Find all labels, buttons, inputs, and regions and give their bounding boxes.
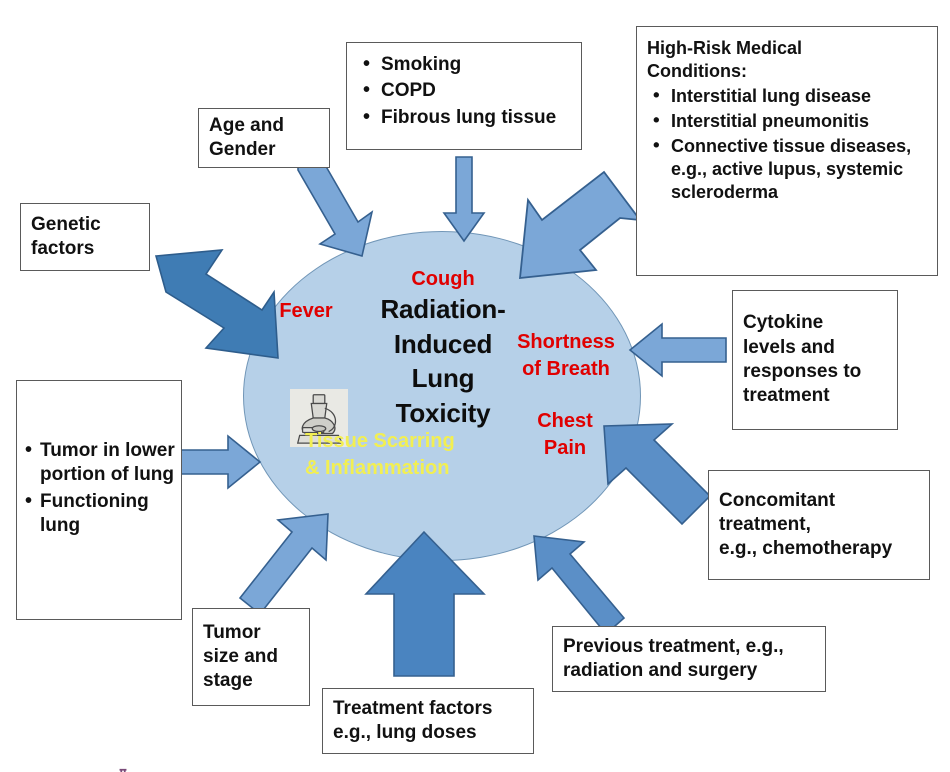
arrow-tumor-size	[236, 508, 336, 618]
box-cytokine-text: Cytokine levels and responses to treatme…	[743, 311, 887, 408]
box-genetic-factors-text: Genetic factors	[31, 213, 139, 262]
list-item: COPD	[357, 79, 571, 103]
box-treatment-factors[interactable]: Treatment factors e.g., lung doses	[322, 688, 534, 754]
symptom-cough: Cough	[385, 266, 501, 293]
arrow-respiratory	[440, 155, 488, 245]
box-tumor-location[interactable]: Tumor in lower portion of lung Functioni…	[16, 380, 182, 620]
box-high-risk-heading: High-Risk Medical Conditions:	[647, 37, 929, 83]
arrow-treatment-factors	[362, 528, 488, 678]
list-item: Connective tissue diseases, e.g., active…	[647, 135, 929, 204]
box-tumor-location-list: Tumor in lower portion of lung Functioni…	[25, 439, 175, 538]
list-item: Tumor in lower portion of lung	[25, 439, 175, 488]
box-age-gender[interactable]: Age and Gender	[198, 108, 330, 168]
arrow-concomitant	[600, 420, 720, 530]
box-previous-treatment[interactable]: Previous treatment, e.g., radiation and …	[552, 626, 826, 692]
box-tumor-size-text: Tumor size and stage	[203, 621, 299, 694]
box-cytokine[interactable]: Cytokine levels and responses to treatme…	[732, 290, 898, 430]
box-respiratory-list: Smoking COPD Fibrous lung tissue	[357, 53, 571, 130]
diagram-canvas: Radiation- Induced Lung Toxicity Cough F…	[0, 0, 950, 772]
arrow-age-gender	[290, 152, 380, 262]
box-respiratory[interactable]: Smoking COPD Fibrous lung tissue	[346, 42, 582, 150]
list-item: Interstitial pneumonitis	[647, 110, 929, 133]
list-item: Interstitial lung disease	[647, 85, 929, 108]
arrow-previous-treatment	[530, 530, 630, 640]
box-high-risk[interactable]: High-Risk Medical Conditions: Interstiti…	[636, 26, 938, 276]
symptom-shortness-of-breath: Shortness of Breath	[503, 329, 629, 382]
list-item: Smoking	[357, 53, 571, 77]
arrow-high-risk	[508, 158, 648, 288]
box-concomitant-treatment[interactable]: Concomitant treatment, e.g., chemotherap…	[708, 470, 930, 580]
box-high-risk-list: Interstitial lung disease Interstitial p…	[647, 85, 929, 204]
box-previous-treatment-text: Previous treatment, e.g., radiation and …	[563, 635, 815, 684]
lungs-icon	[97, 768, 149, 772]
box-genetic-factors[interactable]: Genetic factors	[20, 203, 150, 271]
box-concomitant-treatment-text: Concomitant treatment, e.g., chemotherap…	[719, 489, 919, 562]
symptom-fever: Fever	[258, 298, 354, 325]
box-age-gender-text: Age and Gender	[209, 114, 319, 163]
box-treatment-factors-text: Treatment factors e.g., lung doses	[333, 697, 523, 746]
symptom-tissue-scarring: Tissue Scarring & Inflammation	[305, 428, 555, 481]
box-tumor-size[interactable]: Tumor size and stage	[192, 608, 310, 706]
list-item: Functioning lung	[25, 490, 175, 539]
arrow-tumor-location	[172, 432, 262, 492]
arrow-cytokine	[628, 318, 728, 382]
list-item: Fibrous lung tissue	[357, 106, 571, 130]
